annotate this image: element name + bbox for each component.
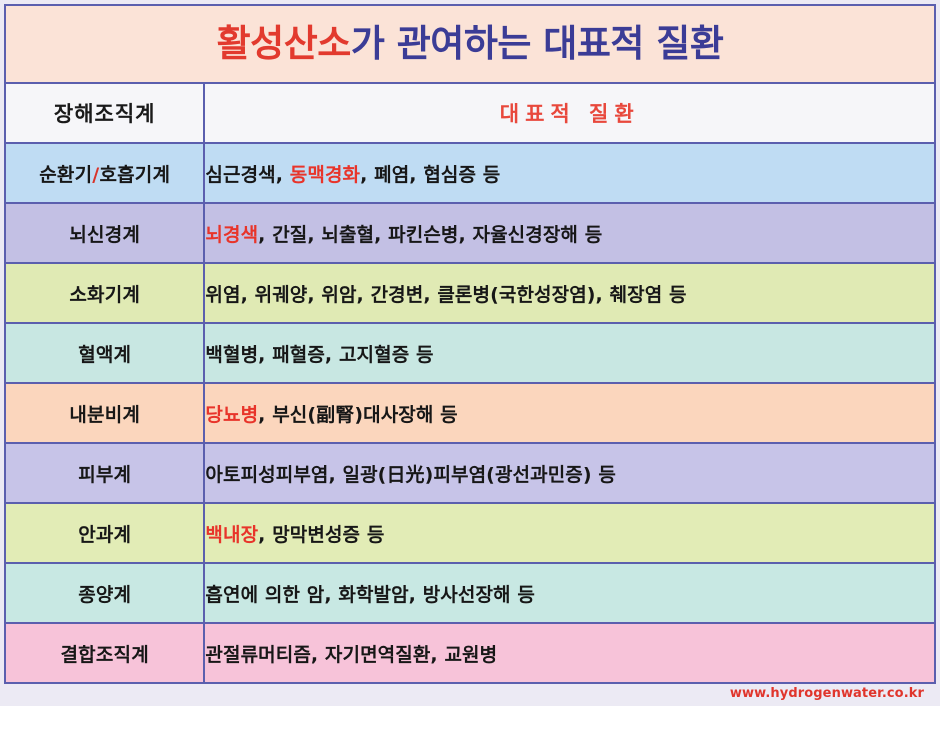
cell-category: 순환기/호흡기계 (5, 143, 204, 203)
disease-label: 흡연에 의한 암, 화학발암, 방사선장해 등 (205, 584, 535, 606)
table-row: 결합조직계관절류머티즘, 자기면역질환, 교원병 (5, 623, 935, 683)
disease-text: 위염, 위궤양, 위암, 간경변, 클론병(국한성장염), 췌장염 등 (205, 284, 686, 306)
table-row: 안과계백내장, 망막변성증 등 (5, 503, 935, 563)
cell-category: 혈액계 (5, 323, 204, 383)
category-label: 뇌신경계 (69, 224, 140, 246)
page-title: 활성산소가 관여하는 대표적 질환 (217, 22, 724, 65)
disease-text: , 부신(副腎)대사장해 등 (258, 404, 458, 426)
disease-text: , 망막변성증 등 (258, 524, 384, 546)
category-label: 소화기계 (69, 284, 140, 306)
cell-disease: 백내장, 망막변성증 등 (204, 503, 935, 563)
disease-label: 백내장, 망막변성증 등 (205, 524, 384, 546)
cell-category: 결합조직계 (5, 623, 204, 683)
disease-label: 관절류머티즘, 자기면역질환, 교원병 (205, 644, 497, 666)
cell-disease: 아토피성피부염, 일광(日光)피부염(광선과민증) 등 (204, 443, 935, 503)
cell-disease: 위염, 위궤양, 위암, 간경변, 클론병(국한성장염), 췌장염 등 (204, 263, 935, 323)
cell-disease: 심근경색, 동맥경화, 폐염, 협심증 등 (204, 143, 935, 203)
cell-category: 뇌신경계 (5, 203, 204, 263)
disease-label: 당뇨병, 부신(副腎)대사장해 등 (205, 404, 457, 426)
table-row: 피부계아토피성피부염, 일광(日光)피부염(광선과민증) 등 (5, 443, 935, 503)
disease-text: , 간질, 뇌출혈, 파킨슨병, 자율신경장해 등 (258, 224, 602, 246)
table-row: 내분비계당뇨병, 부신(副腎)대사장해 등 (5, 383, 935, 443)
category-label: 피부계 (78, 464, 131, 486)
disease-text: 흡연에 의한 암, 화학발암, 방사선장해 등 (205, 584, 535, 606)
cell-disease: 뇌경색, 간질, 뇌출혈, 파킨슨병, 자율신경장해 등 (204, 203, 935, 263)
table-row: 뇌신경계뇌경색, 간질, 뇌출혈, 파킨슨병, 자율신경장해 등 (5, 203, 935, 263)
category-label: 안과계 (78, 524, 131, 546)
table-row: 혈액계백혈병, 패혈증, 고지혈증 등 (5, 323, 935, 383)
category-label: 종양계 (78, 584, 131, 606)
title-row: 활성산소가 관여하는 대표적 질환 (5, 5, 935, 83)
table-row: 순환기/호흡기계심근경색, 동맥경화, 폐염, 협심증 등 (5, 143, 935, 203)
disease-highlight: 뇌경색 (205, 224, 258, 246)
page-title-rest: 가 관여하는 대표적 질환 (351, 22, 724, 65)
header-cell-category: 장해조직계 (5, 83, 204, 143)
disease-label: 백혈병, 패혈증, 고지혈증 등 (205, 344, 433, 366)
disease-highlight: 동맥경화 (290, 164, 360, 186)
cell-category: 피부계 (5, 443, 204, 503)
header-row: 장해조직계 대표적 질환 (5, 83, 935, 143)
disease-text: 관절류머티즘, 자기면역질환, 교원병 (205, 644, 497, 666)
cell-category: 소화기계 (5, 263, 204, 323)
cell-category: 안과계 (5, 503, 204, 563)
watermark-url: www.hydrogenwater.co.kr (730, 686, 924, 701)
disease-label: 뇌경색, 간질, 뇌출혈, 파킨슨병, 자율신경장해 등 (205, 224, 602, 246)
table-title-cell: 활성산소가 관여하는 대표적 질환 (5, 5, 935, 83)
cell-category: 내분비계 (5, 383, 204, 443)
disease-text: 백혈병, 패혈증, 고지혈증 등 (205, 344, 433, 366)
screenshot-root: 활성산소가 관여하는 대표적 질환 장해조직계 대표적 질환 순환기/호흡기계심… (0, 0, 940, 742)
cell-disease: 당뇨병, 부신(副腎)대사장해 등 (204, 383, 935, 443)
cell-disease: 흡연에 의한 암, 화학발암, 방사선장해 등 (204, 563, 935, 623)
header-cell-disease: 대표적 질환 (204, 83, 935, 143)
disease-table-container: 활성산소가 관여하는 대표적 질환 장해조직계 대표적 질환 순환기/호흡기계심… (4, 4, 936, 684)
disease-table: 활성산소가 관여하는 대표적 질환 장해조직계 대표적 질환 순환기/호흡기계심… (4, 4, 936, 684)
category-label: 혈액계 (78, 344, 131, 366)
table-body: 활성산소가 관여하는 대표적 질환 장해조직계 대표적 질환 순환기/호흡기계심… (5, 5, 935, 683)
header-label-disease: 대표적 질환 (500, 102, 640, 126)
page-title-highlight: 활성산소 (217, 22, 351, 65)
cell-category: 종양계 (5, 563, 204, 623)
disease-label: 아토피성피부염, 일광(日光)피부염(광선과민증) 등 (205, 464, 616, 486)
cell-disease: 관절류머티즘, 자기면역질환, 교원병 (204, 623, 935, 683)
table-row: 종양계흡연에 의한 암, 화학발암, 방사선장해 등 (5, 563, 935, 623)
header-label-category: 장해조직계 (54, 102, 156, 126)
table-row: 소화기계위염, 위궤양, 위암, 간경변, 클론병(국한성장염), 췌장염 등 (5, 263, 935, 323)
disease-label: 심근경색, 동맥경화, 폐염, 협심증 등 (205, 164, 500, 186)
category-label: 내분비계 (69, 404, 140, 426)
disease-label: 위염, 위궤양, 위암, 간경변, 클론병(국한성장염), 췌장염 등 (205, 284, 686, 306)
category-label: 결합조직계 (61, 644, 149, 666)
disease-text: , 폐염, 협심증 등 (360, 164, 500, 186)
disease-text: 아토피성피부염, 일광(日光)피부염(광선과민증) 등 (205, 464, 616, 486)
cell-disease: 백혈병, 패혈증, 고지혈증 등 (204, 323, 935, 383)
category-label: 순환기/호흡기계 (39, 164, 170, 186)
disease-highlight: 백내장 (205, 524, 258, 546)
disease-highlight: 당뇨병 (205, 404, 258, 426)
disease-text: 심근경색, (205, 164, 289, 186)
